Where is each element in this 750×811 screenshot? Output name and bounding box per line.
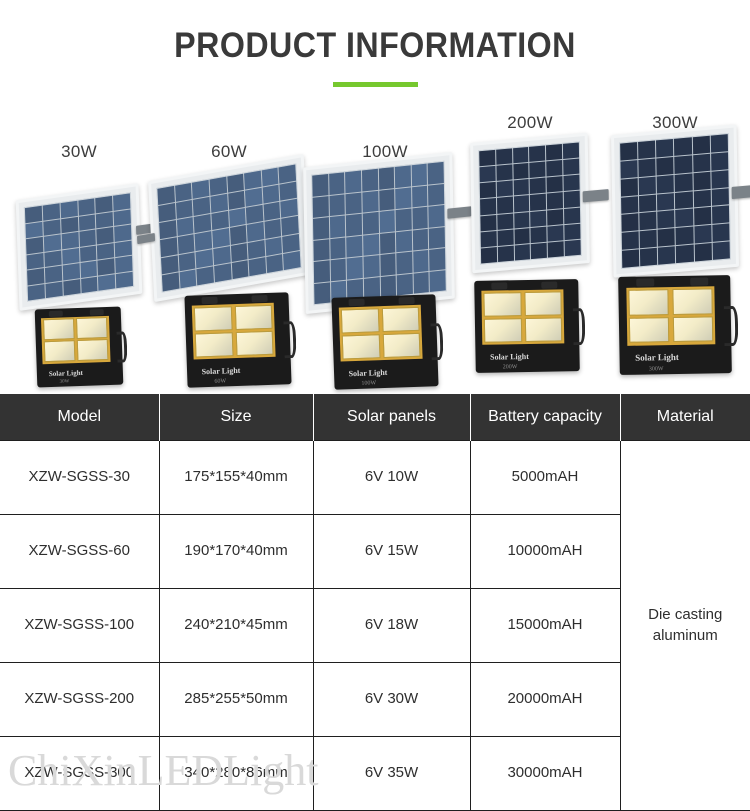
cell-size: 190*170*40mm [159,515,313,589]
product-showcase: 30W Sol [0,96,750,394]
panel-cell-grid [311,161,447,305]
panel-cell-grid [619,133,731,269]
solar-panel-60w [148,154,310,302]
cell-size: 175*155*40mm [159,441,313,515]
flood-brand-label: Solar Light [490,352,529,362]
floodlight-300w: Solar Light 300W [618,275,732,375]
flood-mount-tab [202,297,219,305]
led-array [193,303,277,360]
solar-panel-300w [611,124,739,277]
column-header-battery: Battery capacity [470,394,620,441]
cell-battery: 15000mAH [470,589,620,663]
column-header-size: Size [159,394,313,441]
led-array [482,289,565,345]
cell-solar: 6V 30W [313,663,470,737]
panel-cell-grid [24,192,134,301]
cell-model: XZW-SGSS-300 [0,737,159,811]
flood-brand-label: Solar Light [635,352,679,363]
flood-bracket-icon [116,331,127,363]
cell-solar: 6V 10W [313,441,470,515]
title-accent-rule [333,82,418,87]
flood-bracket-icon [284,321,298,358]
cell-material: Die casting aluminum [620,441,750,811]
cell-battery: 30000mAH [470,737,620,811]
product-group-200w: 200W [455,104,605,394]
table-header-row: Model Size Solar panels Battery capacity… [0,394,750,441]
cell-size: 285*255*50mm [159,663,313,737]
flood-watt-label: 200W [503,364,518,370]
flood-mount-tab [348,299,365,307]
column-header-model: Model [0,394,159,441]
column-header-solar: Solar panels [313,394,470,441]
panel-bracket-icon [732,185,750,199]
cell-battery: 20000mAH [470,663,620,737]
page-title: PRODUCT INFORMATION [30,26,720,66]
led-array [41,316,111,364]
cell-model: XZW-SGSS-200 [0,663,159,737]
column-header-material: Material [620,394,750,441]
flood-brand-label: Solar Light [348,368,387,378]
flood-mount-tab [398,297,415,305]
panel-cell-grid [156,163,301,292]
flood-mount-tab [90,309,104,316]
cell-model: XZW-SGSS-60 [0,515,159,589]
cell-size: 340*280*86mm [159,737,313,811]
flood-brand-label: Solar Light [202,366,241,376]
solar-panel-30w [16,183,143,311]
flood-bracket-icon [430,323,444,360]
flood-watt-label: 30W [60,380,70,385]
flood-mount-tab [491,282,508,290]
cell-model: XZW-SGSS-30 [0,441,159,515]
product-group-300w: 300W [600,104,750,394]
flood-watt-label: 100W [361,381,376,388]
specification-table: Model Size Solar panels Battery capacity… [0,394,750,811]
cell-solar: 6V 15W [313,515,470,589]
panel-cell-grid [478,141,582,264]
cell-battery: 5000mAH [470,441,620,515]
cell-size: 240*210*45mm [159,589,313,663]
led-array [339,305,423,362]
page-header: PRODUCT INFORMATION [0,0,750,96]
solar-panel-100w [303,152,455,314]
flood-watt-label: 60W [215,379,227,385]
product-group-100w: 100W So [300,104,470,394]
led-array [626,286,715,345]
flood-mount-tab [690,277,708,285]
flood-bracket-icon [724,306,738,345]
floodlight-100w: Solar Light 100W [331,294,438,390]
flood-bracket-icon [572,308,585,345]
cell-model: XZW-SGSS-100 [0,589,159,663]
cell-battery: 10000mAH [470,515,620,589]
floodlight-200w: Solar Light 200W [474,279,580,373]
cell-solar: 6V 35W [313,737,470,811]
product-group-60w: 60W Sol [150,104,308,394]
flood-brand-label: Solar Light [49,369,83,378]
product-label-30w: 30W [4,142,154,162]
flood-mount-tab [48,310,62,317]
flood-mount-tab [541,281,558,289]
flood-watt-label: 300W [649,366,664,372]
cell-solar: 6V 18W [313,589,470,663]
solar-panel-200w [470,133,590,274]
product-group-30w: 30W Sol [4,104,154,394]
floodlight-30w: Solar Light 30W [35,307,124,388]
product-label-200w: 200W [455,113,605,133]
flood-mount-tab [251,295,268,303]
flood-mount-tab [636,278,654,286]
floodlight-60w: Solar Light 60W [185,292,292,388]
table-row: XZW-SGSS-30 175*155*40mm 6V 10W 5000mAH … [0,441,750,515]
